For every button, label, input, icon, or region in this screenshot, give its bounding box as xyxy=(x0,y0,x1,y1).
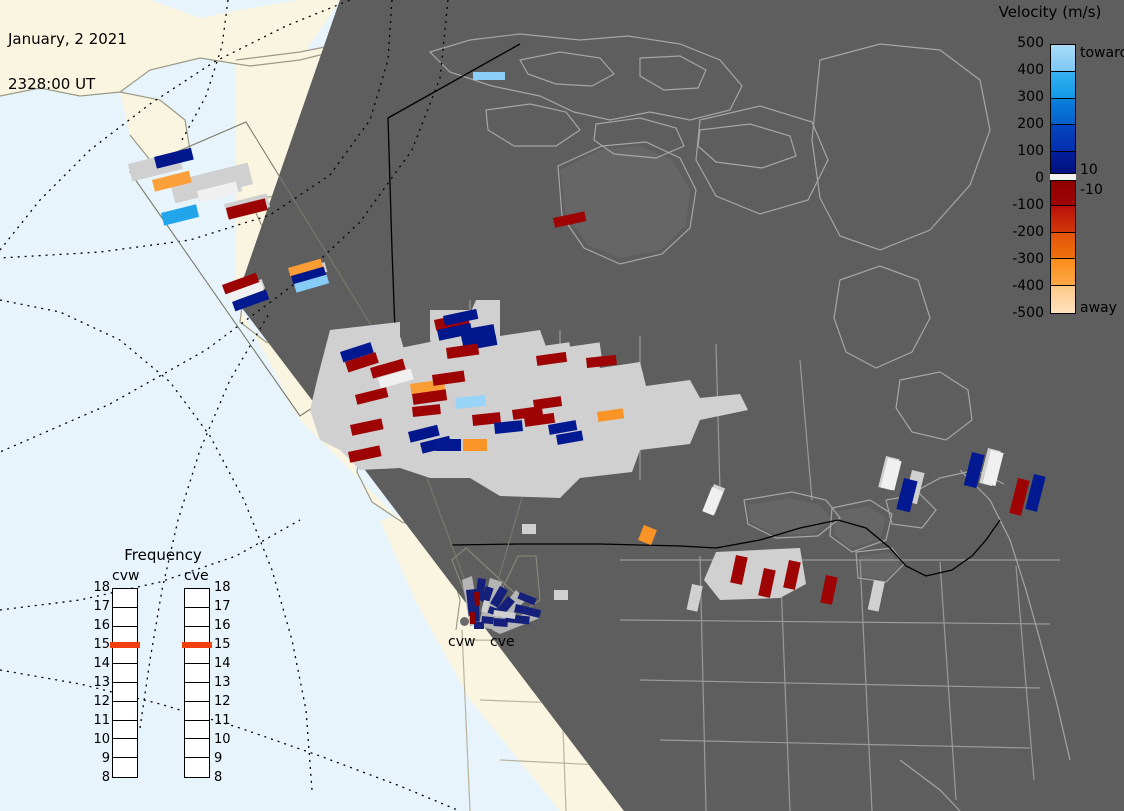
frequency-marker xyxy=(110,642,140,648)
colorbar-segment xyxy=(1051,206,1075,233)
frequency-cell xyxy=(113,664,137,683)
colorbar-segment xyxy=(1051,259,1075,286)
colorbar-ticks: 5004003002001000-100-200-300-400-500 xyxy=(986,0,1044,330)
frequency-scale-label: 10 xyxy=(88,732,110,747)
frequency-scale-label: 14 xyxy=(214,656,236,671)
frequency-scale-label: 12 xyxy=(88,694,110,709)
frequency-scale-label: 8 xyxy=(214,770,236,785)
frequency-cell xyxy=(185,608,209,627)
colorbar-segment xyxy=(1051,286,1075,313)
colorbar-tick-label: 500 xyxy=(996,35,1044,51)
velocity-cell xyxy=(152,171,192,192)
velocity-cell xyxy=(348,445,382,462)
frequency-cell xyxy=(113,645,137,664)
velocity-cell xyxy=(702,487,723,516)
colorbar-tick-label: -400 xyxy=(996,278,1044,294)
frequency-radar-label-cve: cve xyxy=(184,568,209,584)
velocity-cell xyxy=(553,211,586,227)
velocity-cell xyxy=(446,344,479,359)
frequency-scale-label: 11 xyxy=(214,713,236,728)
velocity-cell xyxy=(1009,478,1029,516)
velocity-cell xyxy=(758,568,776,598)
frequency-scale-label: 14 xyxy=(88,656,110,671)
colorbar-tick-label: 400 xyxy=(996,62,1044,78)
velocity-cell xyxy=(730,555,748,585)
colorbar-upper-threshold: 10 xyxy=(1080,162,1098,178)
frequency-bar-cve xyxy=(184,588,210,778)
colorbar-away-label: away xyxy=(1080,300,1117,316)
colorbar-segment xyxy=(1051,233,1075,260)
frequency-scale-label: 15 xyxy=(88,637,110,652)
frequency-scale-label: 9 xyxy=(214,751,236,766)
frequency-bar-cvw xyxy=(112,588,138,778)
colorbar-tick-label: 0 xyxy=(996,170,1044,186)
frequency-scale-label: 8 xyxy=(88,770,110,785)
velocity-cell xyxy=(783,560,801,590)
colorbar-tick-label: -300 xyxy=(996,251,1044,267)
velocity-cell xyxy=(638,525,657,545)
frequency-title: Frequency xyxy=(88,546,238,564)
velocity-cell xyxy=(473,72,505,80)
frequency-legend: Frequency cvw cve 18171615141312111098 1… xyxy=(88,546,238,791)
radar-map-figure: cvw cve January, 2 2021 2328:00 UT Veloc… xyxy=(0,0,1124,811)
velocity-cell xyxy=(881,458,902,490)
radar-site-dot xyxy=(460,617,469,626)
velocity-cell xyxy=(161,204,199,225)
colorbar-tick-label: -100 xyxy=(996,197,1044,213)
velocity-cell xyxy=(355,387,388,404)
colorbar-segment xyxy=(1051,72,1075,99)
velocity-cell xyxy=(197,181,239,202)
frequency-cell xyxy=(185,645,209,664)
velocity-cell xyxy=(597,408,624,422)
velocity-cell xyxy=(820,575,838,605)
colorbar-tick-label: -500 xyxy=(996,305,1044,321)
velocity-cell xyxy=(455,395,486,409)
frequency-cell xyxy=(185,721,209,740)
frequency-cell xyxy=(185,589,209,608)
velocity-cell xyxy=(533,396,562,410)
frequency-scale-label: 13 xyxy=(214,675,236,690)
frequency-scale-label: 16 xyxy=(88,618,110,633)
frequency-cell xyxy=(185,758,209,777)
frequency-scale-label: 13 xyxy=(88,675,110,690)
colorbar-segment xyxy=(1051,125,1075,152)
colorbar-segment xyxy=(1051,179,1075,206)
frequency-marker xyxy=(182,642,212,648)
velocity-cell xyxy=(983,450,1004,486)
timestamp: January, 2 2021 2328:00 UT xyxy=(8,2,127,122)
velocity-cell xyxy=(412,404,441,417)
velocity-cell xyxy=(586,355,617,368)
frequency-scale-label: 17 xyxy=(214,599,236,614)
frequency-scale-label: 11 xyxy=(88,713,110,728)
colorbar-tick-label: 300 xyxy=(996,89,1044,105)
frequency-cell xyxy=(113,683,137,702)
frequency-scale-label: 18 xyxy=(88,580,110,595)
frequency-scale-label: 15 xyxy=(214,637,236,652)
frequency-cell xyxy=(113,758,137,777)
velocity-cell xyxy=(896,478,917,512)
velocity-cell xyxy=(964,452,985,488)
frequency-scale-label: 16 xyxy=(214,618,236,633)
frequency-cell xyxy=(113,589,137,608)
frequency-radar-label-cvw: cvw xyxy=(112,568,139,584)
colorbar-segment xyxy=(1051,99,1075,126)
colorbar-lower-threshold: -10 xyxy=(1080,182,1103,198)
site-label-cve: cve xyxy=(490,634,515,650)
frequency-cell xyxy=(185,683,209,702)
velocity-cell xyxy=(494,420,523,434)
site-label-cvw: cvw xyxy=(448,634,475,650)
colorbar-toward-label: toward xyxy=(1080,45,1124,61)
frequency-cell xyxy=(113,608,137,627)
frequency-scale-label: 17 xyxy=(88,599,110,614)
frequency-cell xyxy=(113,721,137,740)
frequency-scale-label: 18 xyxy=(214,580,236,595)
frequency-cell xyxy=(185,664,209,683)
colorbar-tick-label: 200 xyxy=(996,116,1044,132)
timestamp-date: January, 2 2021 xyxy=(8,32,127,47)
velocity-cell xyxy=(226,198,268,219)
frequency-scale-label: 10 xyxy=(214,732,236,747)
velocity-cell xyxy=(350,418,384,435)
velocity-cell xyxy=(536,352,567,366)
velocity-cell xyxy=(432,371,465,386)
frequency-scale-label: 12 xyxy=(214,694,236,709)
frequency-cell xyxy=(185,739,209,758)
frequency-cell xyxy=(113,739,137,758)
velocity-colorbar: Velocity (m/s) 5004003002001000-100-200-… xyxy=(968,0,1124,330)
velocity-cell xyxy=(435,439,461,451)
colorbar-tick-label: -200 xyxy=(996,224,1044,240)
frequency-cell xyxy=(113,702,137,721)
colorbar-tick-label: 100 xyxy=(996,143,1044,159)
velocity-cell xyxy=(463,439,487,451)
frequency-scale-label: 9 xyxy=(88,751,110,766)
colorbar-zero-band xyxy=(1050,173,1076,181)
velocity-cell xyxy=(154,148,194,169)
timestamp-time: 2328:00 UT xyxy=(8,77,127,92)
frequency-cell xyxy=(185,702,209,721)
colorbar-segment xyxy=(1051,45,1075,72)
